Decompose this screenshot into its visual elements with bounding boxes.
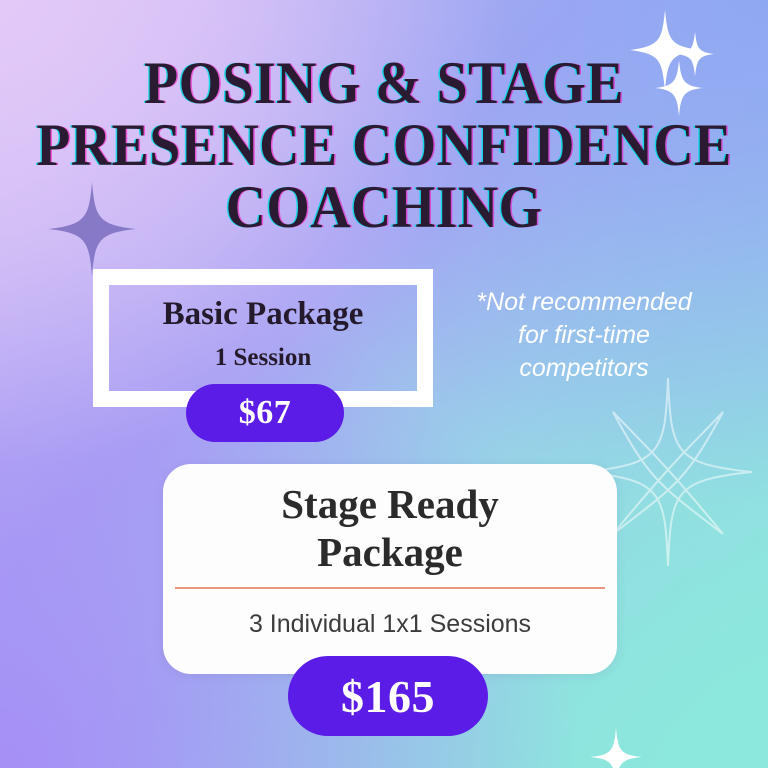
basic-package-name: Basic Package — [93, 296, 433, 332]
page-title: Posing & Stage Presence Confidence Coach… — [27, 52, 741, 238]
basic-package-note: *Not recommended for first-time competit… — [444, 286, 724, 385]
stage-ready-package-name: Stage Ready Package — [163, 480, 617, 576]
basic-package-price-value: $67 — [239, 394, 292, 432]
stage-ready-package-price-value: $165 — [341, 670, 435, 723]
basic-package-sessions: 1 Session — [93, 344, 433, 372]
stage-ready-package-sessions: 3 Individual 1x1 Sessions — [163, 608, 617, 640]
poster-canvas: Posing & Stage Presence Confidence Coach… — [0, 0, 768, 768]
sparkle-bottom-right-icon — [590, 728, 642, 768]
stage-ready-package-divider — [175, 587, 605, 589]
stage-ready-package-price-badge[interactable]: $165 — [288, 656, 488, 736]
basic-package-price-badge[interactable]: $67 — [186, 384, 344, 442]
